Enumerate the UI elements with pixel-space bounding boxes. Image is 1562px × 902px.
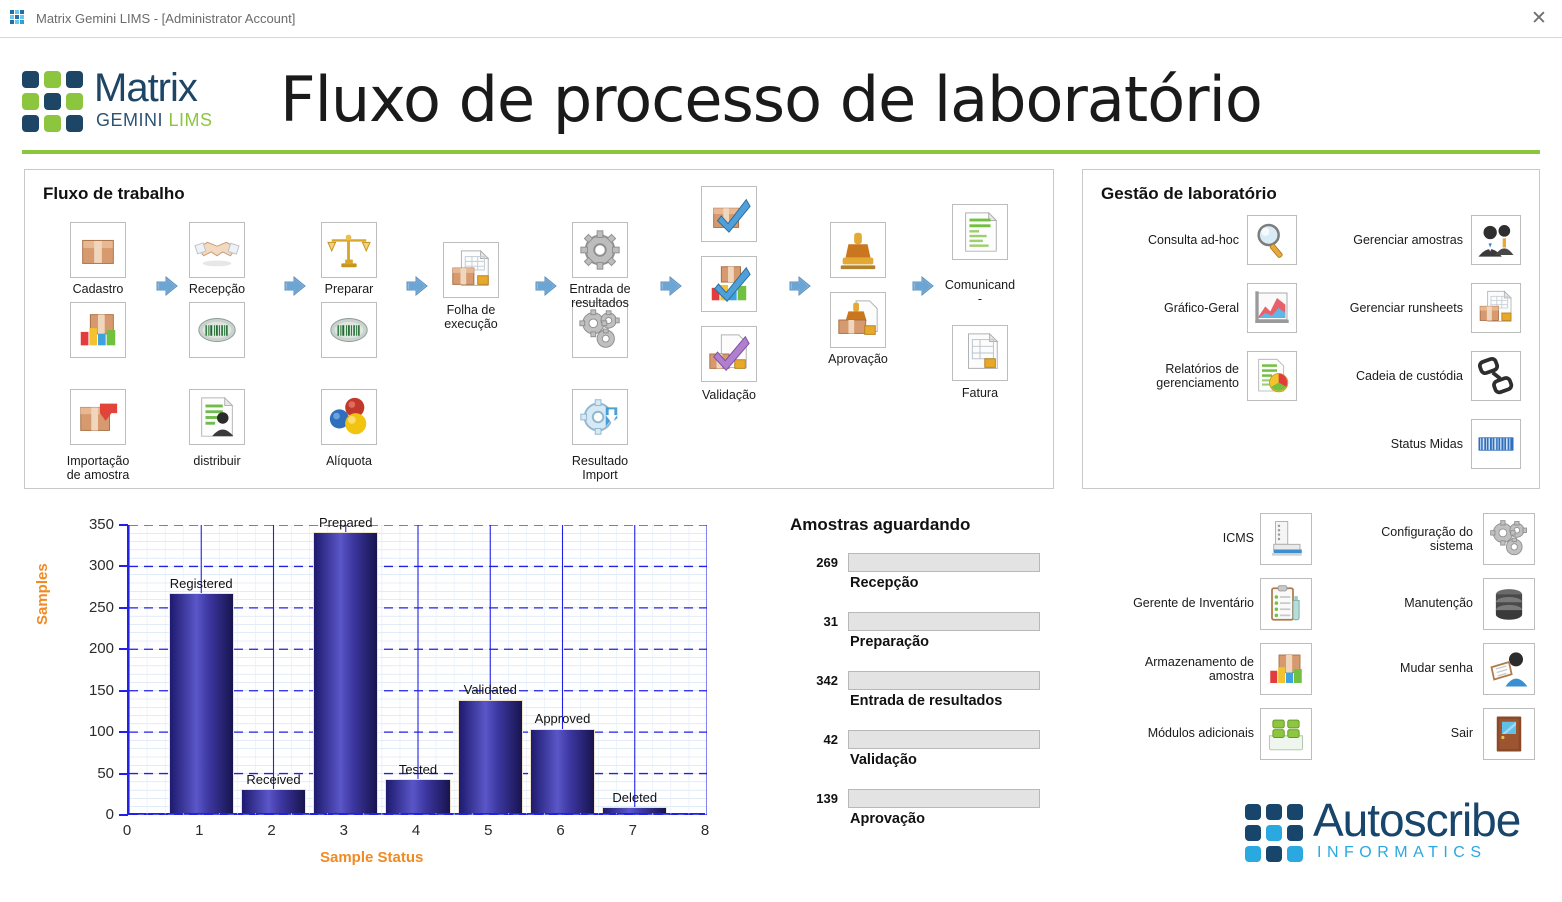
mgmt-left-label-3: Relatórios degerenciamento	[1107, 362, 1239, 390]
box-check-color-icon	[706, 261, 752, 307]
mgmt-right-label-2: Gerenciar runsheets	[1321, 301, 1463, 315]
stamp-box-icon	[835, 297, 881, 343]
box-icon	[75, 227, 121, 273]
chart-ytick-350: 350	[70, 516, 114, 533]
workflow-tile-6-3[interactable]	[701, 326, 757, 382]
sysgrid-left-label-3: Armazenamento deamostra	[1116, 655, 1254, 683]
chart-y-axis-label: Samples	[34, 563, 51, 625]
waiting-samples-panel: Amostras aguardando 269Recepção31Prepara…	[790, 515, 1055, 865]
waiting-count-3: 342	[790, 673, 838, 688]
sysgrid-left-tile-2[interactable]	[1260, 578, 1312, 630]
balance-scale-icon	[326, 227, 372, 273]
workflow-panel: Fluxo de trabalho CadastroImportaçãode a…	[24, 169, 1054, 489]
chart-bar-received	[241, 789, 306, 813]
waiting-count-4: 42	[790, 732, 838, 747]
sysgrid-right-label-2: Manutenção	[1340, 596, 1473, 610]
waiting-samples-title: Amostras aguardando	[790, 515, 1055, 535]
workflow-label-5-1: Entrada deresultados	[550, 282, 650, 310]
chart-bar-label-registered: Registered	[163, 576, 240, 591]
workflow-tile-1-2[interactable]	[70, 302, 126, 358]
management-panel-title: Gestão de laboratório	[1101, 184, 1277, 204]
sysgrid-right-label-4: Sair	[1340, 726, 1473, 740]
arrow-right-icon	[659, 275, 683, 297]
app-icon	[10, 10, 27, 27]
chart-xtick-6: 6	[549, 822, 573, 839]
workflow-label-6-1: Validação	[679, 388, 779, 402]
chart-bar-tested	[385, 779, 450, 813]
autoscribe-logo: Autoscribe INFORMATICS	[1245, 800, 1540, 870]
workflow-tile-5-1[interactable]	[572, 222, 628, 278]
sysgrid-right-label-3: Mudar senha	[1340, 661, 1473, 675]
chart-bar-label-received: Received	[235, 772, 312, 787]
waiting-progressbar-2	[848, 612, 1040, 631]
box-check-icon	[706, 191, 752, 237]
waiting-progressbar-4	[848, 730, 1040, 749]
waiting-progressbar-5	[848, 789, 1040, 808]
workflow-label-4-1: Folha deexecução	[421, 303, 521, 331]
waiting-count-5: 139	[790, 791, 838, 806]
chart-bar-label-prepared: Prepared	[307, 515, 384, 530]
waiting-label-3: Entrada de resultados	[850, 693, 1002, 709]
workflow-tile-5-3[interactable]	[572, 389, 628, 445]
chart-ytick-mark	[119, 565, 128, 567]
chart-ytick-0: 0	[70, 806, 114, 823]
workflow-tile-1-1[interactable]	[70, 222, 126, 278]
chart-plot-area: RegisteredReceivedPreparedTestedValidate…	[127, 525, 705, 815]
workflow-tile-2-2[interactable]	[189, 302, 245, 358]
logo-sub-lims: LIMS	[169, 110, 213, 130]
box-import-arrow-icon	[75, 394, 121, 440]
waiting-label-5: Aprovação	[850, 811, 925, 827]
gear-icon	[577, 227, 623, 273]
chart-xtick-3: 3	[332, 822, 356, 839]
waiting-row-5[interactable]: 139Aprovação	[790, 789, 1055, 845]
waiting-row-3[interactable]: 342Entrada de resultados	[790, 671, 1055, 727]
sysgrid-left-label-2: Gerente de Inventário	[1116, 596, 1254, 610]
workflow-tile-6-2[interactable]	[701, 256, 757, 312]
chart-xtick-0: 0	[115, 822, 139, 839]
workflow-panel-title: Fluxo de trabalho	[43, 184, 185, 204]
arrow-right-icon	[405, 275, 429, 297]
report-doc-icon	[957, 209, 1003, 255]
gears-icon	[577, 307, 623, 353]
mgmt-left-tile-2[interactable]	[1247, 283, 1297, 333]
chain-link-icon	[1476, 356, 1516, 396]
waiting-label-4: Validação	[850, 752, 917, 768]
arrow-right-icon	[155, 275, 179, 297]
workflow-tile-2-3[interactable]	[189, 389, 245, 445]
chart-ytick-mark	[119, 648, 128, 650]
chart-xtick-8: 8	[693, 822, 717, 839]
logo-sub-gemini: GEMINI	[96, 110, 163, 130]
workflow-tile-3-1[interactable]	[321, 222, 377, 278]
workflow-label-1-1: Cadastro	[48, 282, 148, 296]
chart-ytick-mark	[119, 524, 128, 526]
waiting-row-2[interactable]: 31Preparação	[790, 612, 1055, 668]
workflow-tile-8-2[interactable]	[952, 325, 1008, 381]
workflow-label-2-3: distribuir	[167, 454, 267, 468]
page-title: Fluxo de processo de laboratório	[280, 56, 1262, 144]
mgmt-right-tile-3[interactable]	[1471, 351, 1521, 401]
modules-tray-icon	[1265, 713, 1307, 755]
chart-ytick-mark	[119, 814, 128, 816]
chart-bar-approved	[530, 729, 595, 814]
workflow-tile-2-1[interactable]	[189, 222, 245, 278]
workflow-label-5-3: ResultadoImport	[550, 454, 650, 482]
workflow-label-3-3: Alíquota	[299, 454, 399, 468]
waiting-progressbar-3	[848, 671, 1040, 690]
logo-subtitle: GEMINI LIMS	[96, 110, 213, 130]
waiting-row-4[interactable]: 42Validação	[790, 730, 1055, 786]
sysgrid-right-tile-3[interactable]	[1483, 643, 1535, 695]
clipboard-bottle-icon	[1265, 583, 1307, 625]
system-shortcuts-grid: ICMSGerente de InventárioArmazenamento d…	[1100, 505, 1545, 775]
autoscribe-wordmark: Autoscribe	[1313, 794, 1520, 846]
chart-bar-label-tested: Tested	[379, 762, 456, 777]
box-colorbars-icon	[1265, 648, 1307, 690]
gear-download-icon	[577, 394, 623, 440]
runsheet-box-doc-icon	[1476, 288, 1516, 328]
chart-xtick-7: 7	[621, 822, 645, 839]
invoice-doc-icon	[957, 330, 1003, 376]
autoscribe-subtitle: INFORMATICS	[1317, 844, 1487, 862]
chart-ytick-mark	[119, 690, 128, 692]
workflow-label-3-1: Preparar	[299, 282, 399, 296]
sysgrid-right-tile-2[interactable]	[1483, 578, 1535, 630]
chart-xtick-2: 2	[260, 822, 284, 839]
chart-bar-label-validated: Validated	[452, 682, 529, 697]
chart-ytick-mark	[119, 607, 128, 609]
chart-x-axis-label: Sample Status	[320, 849, 423, 866]
workflow-tile-8-1[interactable]	[952, 204, 1008, 260]
workflow-tile-1-3[interactable]	[70, 389, 126, 445]
page-header: Matrix GEMINI LIMS Fluxo de processo de …	[0, 38, 1562, 158]
mgmt-right-tile-1[interactable]	[1471, 215, 1521, 265]
person-form-icon	[1488, 648, 1530, 690]
chart-bar-deleted	[602, 807, 667, 813]
matrix-grid-icon	[22, 71, 84, 133]
barcode-oval-icon	[326, 307, 372, 353]
chart-ytick-100: 100	[70, 723, 114, 740]
arrow-right-icon	[911, 275, 935, 297]
mgmt-right-label-3: Cadeia de custódia	[1321, 369, 1463, 383]
workflow-label-2-1: Recepção	[167, 282, 267, 296]
runsheet-box-doc-icon	[448, 247, 494, 293]
title-bar: Matrix Gemini LIMS - [Administrator Acco…	[0, 0, 1562, 38]
workflow-label-1-3: Importaçãode amostra	[48, 454, 148, 482]
gears-icon	[1488, 518, 1530, 560]
sysgrid-left-tile-3[interactable]	[1260, 643, 1312, 695]
waiting-count-2: 31	[790, 614, 838, 629]
magnifier-icon	[1252, 220, 1292, 260]
workflow-tile-3-3[interactable]	[321, 389, 377, 445]
mgmt-right-tile-4[interactable]	[1471, 419, 1521, 469]
workflow-label-8-2: Fatura	[930, 386, 1030, 400]
window-title: Matrix Gemini LIMS - [Administrator Acco…	[36, 11, 295, 26]
workflow-tile-6-1[interactable]	[701, 186, 757, 242]
lab-management-panel: Gestão de laboratório Consulta ad-hocGrá…	[1082, 169, 1540, 489]
header-divider	[22, 150, 1540, 154]
chart-ytick-200: 200	[70, 640, 114, 657]
chart-bar-label-deleted: Deleted	[596, 790, 673, 805]
workflow-tile-7-2[interactable]	[830, 292, 886, 348]
workflow-tile-4-1[interactable]	[443, 242, 499, 298]
chart-ytick-150: 150	[70, 682, 114, 699]
workflow-tile-7-1[interactable]	[830, 222, 886, 278]
mgmt-right-label-1: Gerenciar amostras	[1321, 233, 1463, 247]
barcode-oval-icon	[194, 307, 240, 353]
mgmt-right-tile-2[interactable]	[1471, 283, 1521, 333]
door-exit-icon	[1488, 713, 1530, 755]
chart-ytick-50: 50	[70, 765, 114, 782]
sysgrid-right-label-1: Configuração dosistema	[1340, 525, 1473, 553]
workflow-label-8-1: Comunicand-	[930, 278, 1030, 306]
sysgrid-left-tile-4[interactable]	[1260, 708, 1312, 760]
spreadsheet-person-icon	[194, 394, 240, 440]
chart-bar-prepared	[313, 532, 378, 813]
sysgrid-right-tile-1[interactable]	[1483, 513, 1535, 565]
mgmt-left-tile-3[interactable]	[1247, 351, 1297, 401]
mgmt-left-tile-1[interactable]	[1247, 215, 1297, 265]
people-icon	[1476, 220, 1516, 260]
workflow-tile-5-2[interactable]	[572, 302, 628, 358]
autoscribe-grid-icon	[1245, 804, 1305, 860]
waiting-label-2: Preparação	[850, 634, 929, 650]
waiting-row-1[interactable]: 269Recepção	[790, 553, 1055, 609]
waiting-progressbar-1	[848, 553, 1040, 572]
mgmt-right-label-4: Status Midas	[1321, 437, 1463, 451]
area-chart-icon	[1252, 288, 1292, 328]
chart-ytick-mark	[119, 773, 128, 775]
sysgrid-right-tile-4[interactable]	[1483, 708, 1535, 760]
sysgrid-left-label-4: Módulos adicionais	[1116, 726, 1254, 740]
chart-bar-validated	[458, 700, 523, 814]
sysgrid-left-label-1: ICMS	[1116, 531, 1254, 545]
chart-ytick-mark	[119, 731, 128, 733]
sample-status-chart: Samples Sample Status RegisteredReceived…	[40, 505, 730, 880]
chart-ytick-250: 250	[70, 599, 114, 616]
matrix-gemini-logo: Matrix GEMINI LIMS	[22, 66, 222, 138]
scanner-icon	[1265, 518, 1307, 560]
report-piechart-icon	[1252, 356, 1292, 396]
chart-bar-registered	[169, 593, 234, 813]
box-colorbars-icon	[75, 307, 121, 353]
close-icon[interactable]: ✕	[1516, 0, 1562, 37]
mgmt-left-label-1: Consulta ad-hoc	[1107, 233, 1239, 247]
barcode-bar-icon	[1476, 424, 1516, 464]
mgmt-left-label-2: Gráfico-Geral	[1107, 301, 1239, 315]
spheres-icon	[326, 394, 372, 440]
doc-check-icon	[706, 331, 752, 377]
arrow-right-icon	[283, 275, 307, 297]
database-icon	[1488, 583, 1530, 625]
chart-xtick-5: 5	[476, 822, 500, 839]
handshake-icon	[194, 227, 240, 273]
chart-ytick-300: 300	[70, 557, 114, 574]
chart-xtick-4: 4	[404, 822, 428, 839]
workflow-label-7-1: Aprovação	[808, 352, 908, 366]
arrow-right-icon	[534, 275, 558, 297]
sysgrid-left-tile-1[interactable]	[1260, 513, 1312, 565]
waiting-count-1: 269	[790, 555, 838, 570]
workflow-tile-3-2[interactable]	[321, 302, 377, 358]
stamp-icon	[835, 227, 881, 273]
waiting-label-1: Recepção	[850, 575, 919, 591]
arrow-right-icon	[788, 275, 812, 297]
chart-xtick-1: 1	[187, 822, 211, 839]
chart-bar-label-approved: Approved	[524, 711, 601, 726]
logo-wordmark: Matrix	[94, 66, 197, 110]
